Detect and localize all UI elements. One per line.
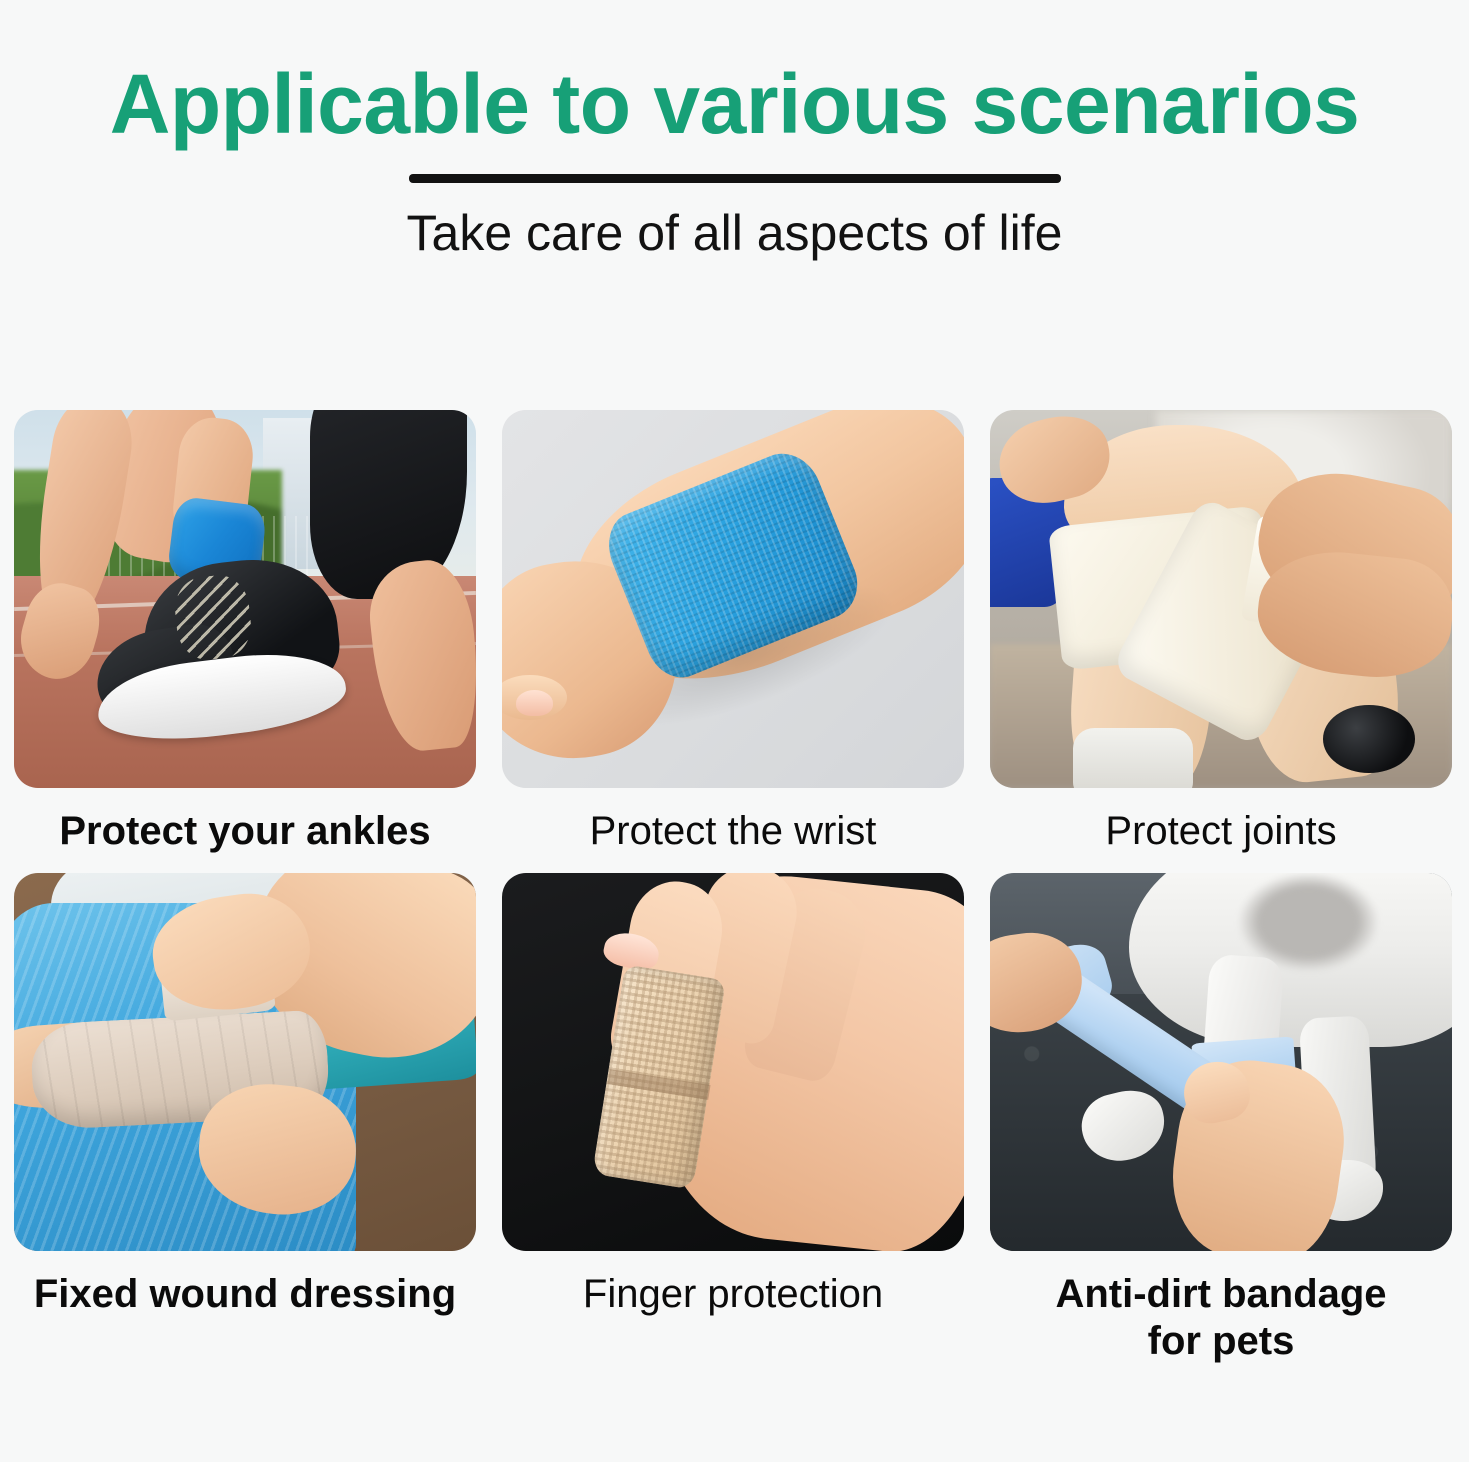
scenario-image-finger [502,873,964,1251]
scenario-image-joints [990,410,1452,788]
scenario-caption-finger: Finger protection [502,1271,964,1318]
scenario-cell-pets: Anti-dirt bandage for pets [990,873,1452,1365]
scenario-caption-pets-line1: Anti-dirt bandage [990,1271,1452,1318]
scenario-image-pets [990,873,1452,1251]
photo-wrist [502,410,964,788]
scenario-cell-finger: Finger protection [502,873,964,1365]
scenario-cell-ankle: Protect your ankles [14,410,476,855]
scenario-row-1: Protect your ankles Protect the wrist [14,410,1455,855]
scenario-image-wound [14,873,476,1251]
scenario-row-2: Fixed wound dressing Finge [14,873,1455,1365]
scenario-caption-pets-line2: for pets [990,1318,1452,1365]
page-title: Applicable to various scenarios [0,0,1469,146]
infographic-page: Applicable to various scenarios Take car… [0,0,1469,1462]
photo-runner-ankle [14,410,476,788]
scenario-caption-joints: Protect joints [990,808,1452,855]
photo-knee [990,410,1452,788]
scenario-cell-joints: Protect joints [990,410,1452,855]
scenario-image-wrist [502,410,964,788]
scenario-caption-wrist: Protect the wrist [502,808,964,855]
scenario-cell-wrist: Protect the wrist [502,410,964,855]
scenario-caption-wound: Fixed wound dressing [14,1271,476,1318]
sock [1073,728,1193,788]
photo-dog-leg [990,873,1452,1251]
photo-finger [502,873,964,1251]
scenario-cell-wound: Fixed wound dressing [14,873,476,1365]
fingernail [516,690,553,716]
page-subtitle: Take care of all aspects of life [0,207,1469,260]
scenario-caption-pets: Anti-dirt bandage for pets [990,1271,1452,1365]
title-divider [409,174,1061,183]
title-divider-wrap [0,174,1469,183]
scenario-grid: Protect your ankles Protect the wrist [14,410,1455,1366]
dumbbell-icon [1323,705,1415,773]
photo-forearm-dressing [14,873,476,1251]
header: Applicable to various scenarios Take car… [0,0,1469,260]
scenario-caption-ankle: Protect your ankles [14,808,476,855]
scenario-image-ankle [14,410,476,788]
